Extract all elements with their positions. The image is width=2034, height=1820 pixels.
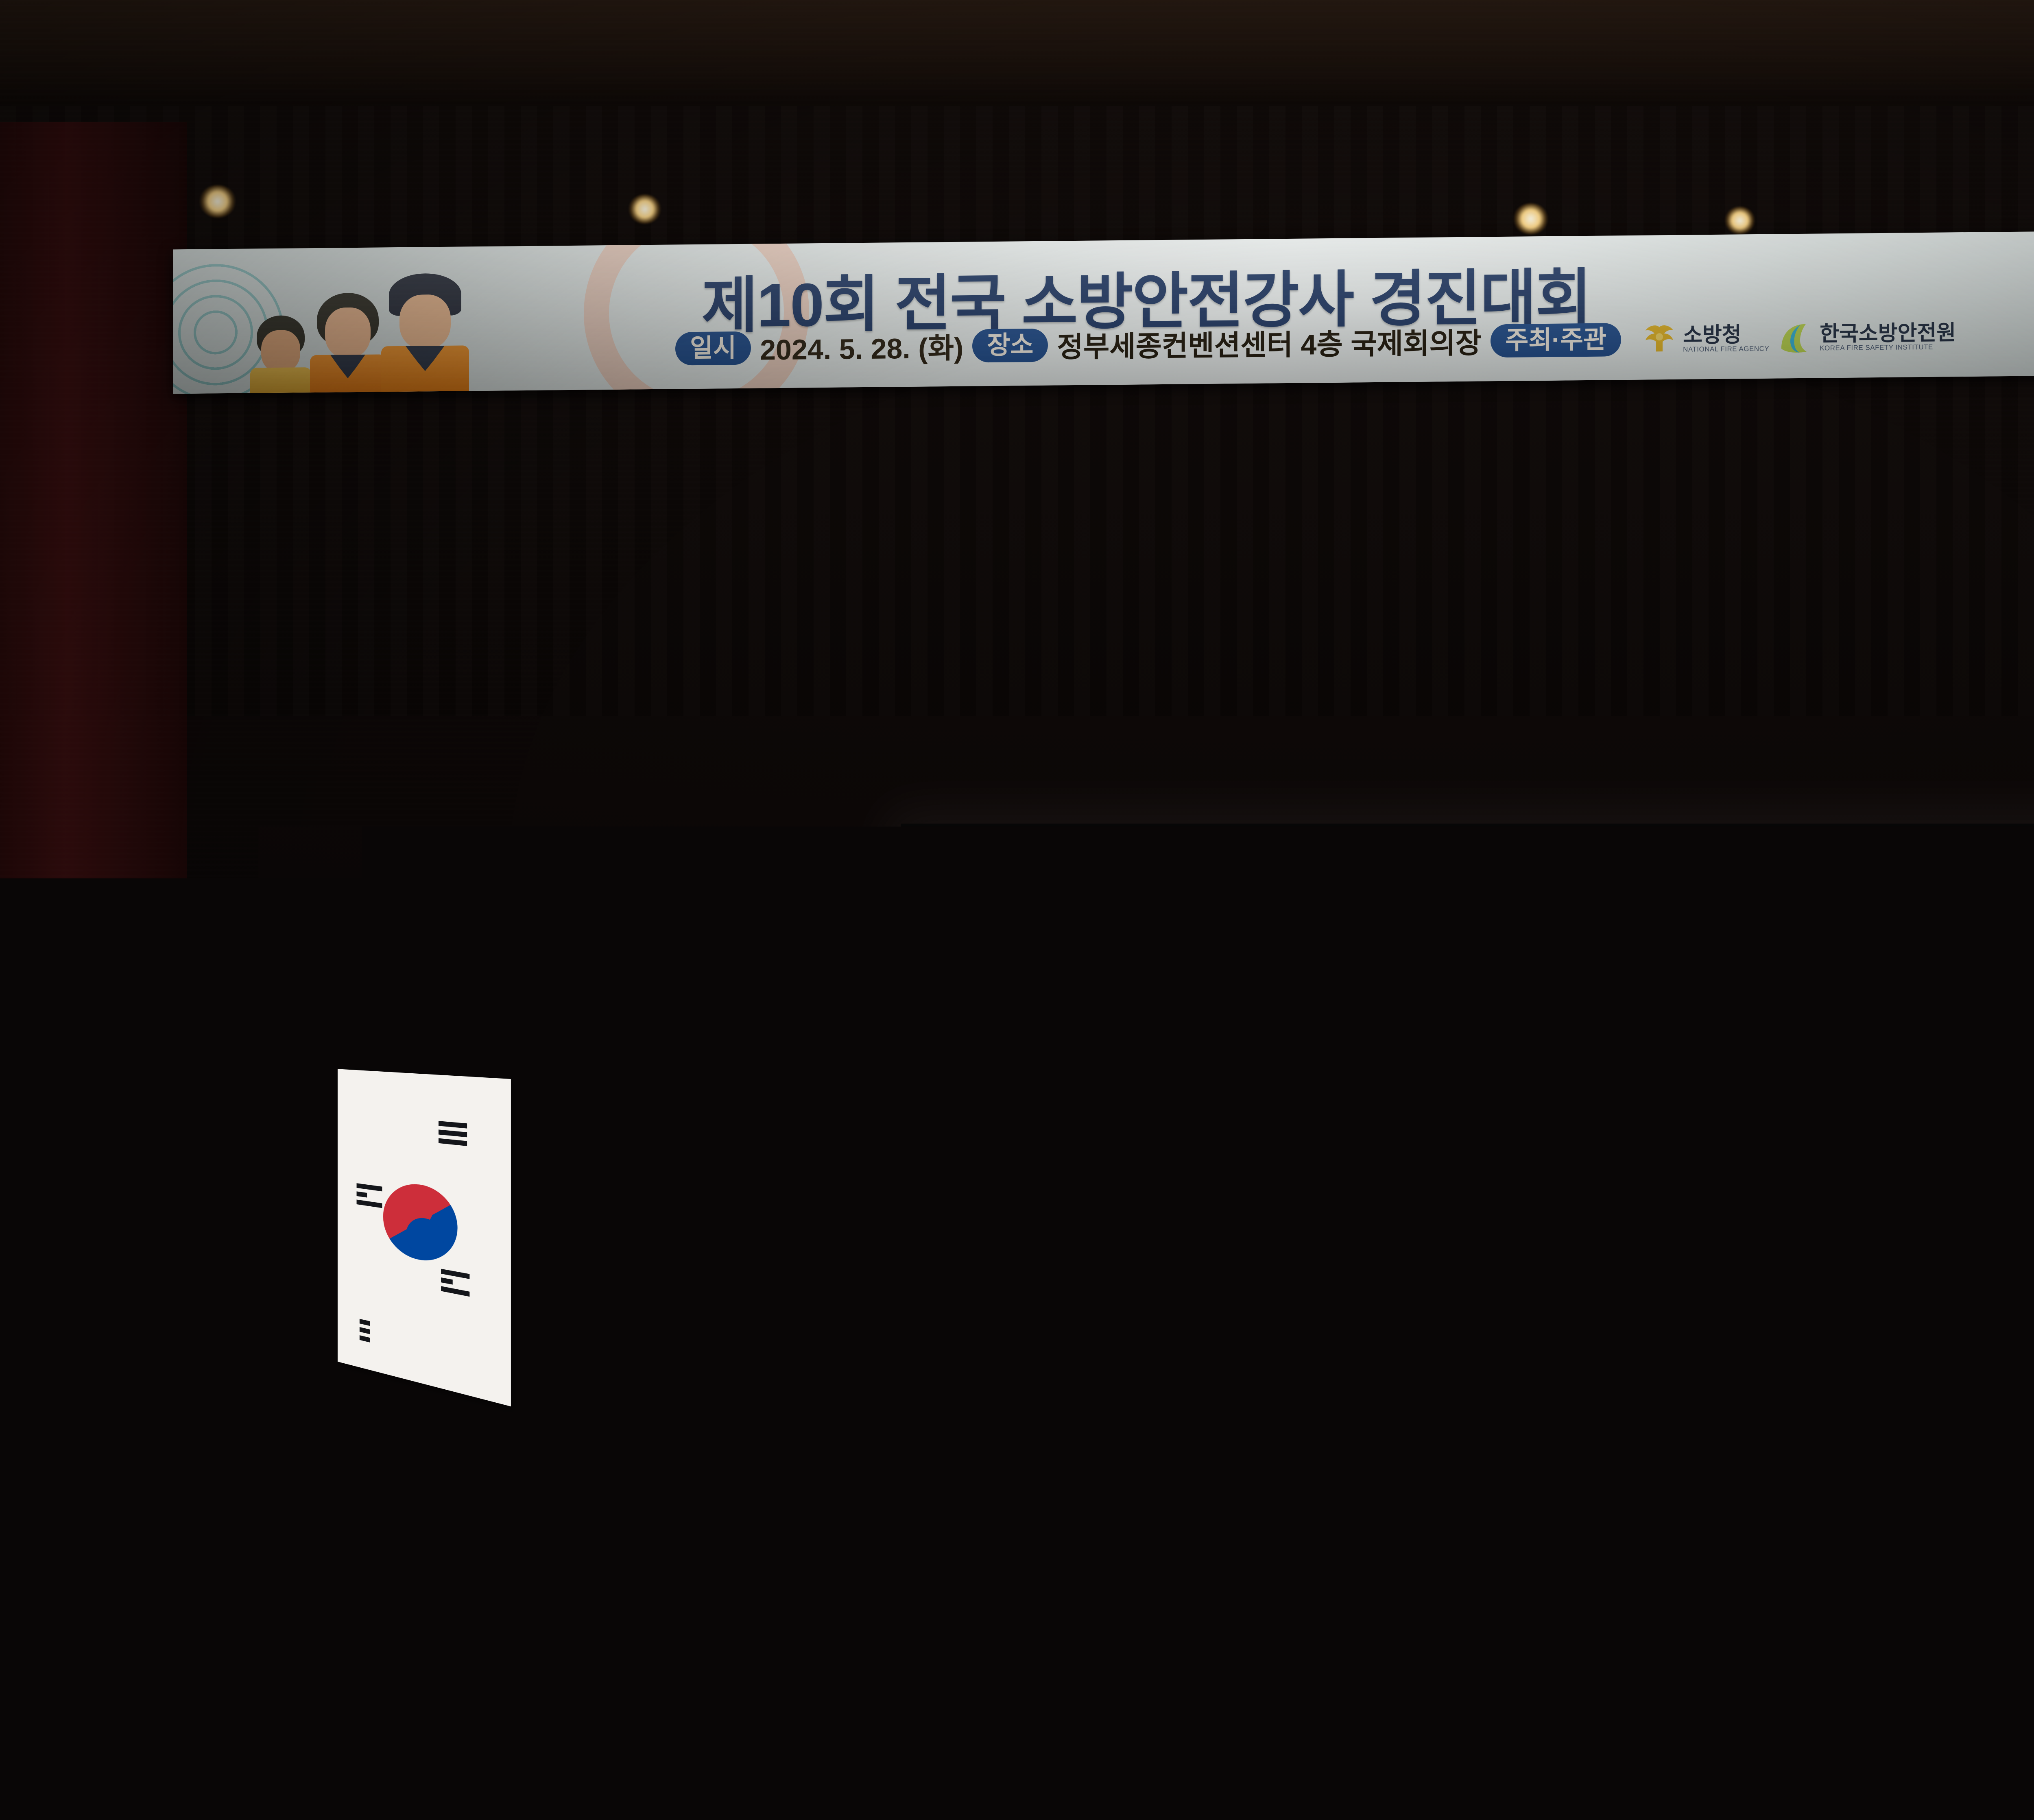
audience-member xyxy=(443,1545,578,1820)
camcorder-lcd-screen xyxy=(1613,1420,1638,1441)
date-chip-label: 일시 xyxy=(675,331,751,365)
organizer-kfsi: 한국소방안전원 KOREA FIRE SAFETY INSTITUTE xyxy=(1777,320,1956,354)
event-place-value: 정부세종컨벤션센터 4층 국제회의장 xyxy=(1057,320,1482,365)
event-date-value: 2024. 5. 28. (화) xyxy=(760,325,963,368)
back-curtain xyxy=(0,106,2034,716)
taeguk-symbol xyxy=(383,1180,458,1266)
stage-monitor-speaker xyxy=(1135,1407,1237,1468)
slide-credit-text: 강원특별자치도소방본부 평창소방서 소방교 김지연 xyxy=(1585,1304,2016,1335)
flower-bloom xyxy=(1552,1480,1582,1510)
water-bottle[interactable] xyxy=(1489,1586,1510,1655)
presenter-id-badge xyxy=(147,1322,172,1362)
trigram-geon xyxy=(439,1121,467,1150)
organizer-fire-agency: 소방청 NATIONAL FIRE AGENCY xyxy=(1641,322,1769,355)
audience-member xyxy=(130,1631,268,1820)
flagpole-base xyxy=(302,1505,359,1526)
banquet-chair[interactable] xyxy=(317,1654,447,1819)
audience-member xyxy=(1654,1448,1784,1820)
audience-member xyxy=(1824,1501,1947,1820)
organizer-logos: 소방청 NATIONAL FIRE AGENCY 한국소방안전원 xyxy=(1641,320,1956,355)
projection-screen-frame: 노인 대상 자연재난 안전교육 여름마당겨울마당 xyxy=(901,824,2034,1348)
fire-agency-name-en: NATIONAL FIRE AGENCY xyxy=(1683,345,1769,353)
fire-station-emblem-icon xyxy=(1545,1303,1577,1335)
flower-bloom xyxy=(1471,1472,1515,1511)
trigram-gon xyxy=(360,1319,370,1346)
trigram-ri xyxy=(441,1269,469,1301)
presenter-arm-left xyxy=(95,1297,118,1383)
ceiling-spotlight xyxy=(1725,207,1755,234)
flagpole xyxy=(327,1053,334,1533)
ceiling-spotlight xyxy=(1513,203,1548,234)
presenter-shoulder-epaulette xyxy=(108,1259,135,1271)
trigram-gam xyxy=(357,1183,382,1212)
event-banner: 제10회 전국 소방안전강사 경진대회 일시 2024. 5. 28. (화) … xyxy=(173,227,2034,394)
presenter-arm-patch xyxy=(182,1273,204,1295)
stage-monitor-speaker xyxy=(659,1403,761,1464)
audience-member xyxy=(1298,1484,1420,1820)
slide-credit-line: 강원특별자치도소방본부 평창소방서 소방교 김지연 xyxy=(1545,1303,2016,1335)
audience-member xyxy=(1035,1476,1157,1820)
smartphone[interactable] xyxy=(895,1476,1005,1537)
paper-cup[interactable] xyxy=(1542,1636,1572,1675)
stage-monitor-speaker xyxy=(1912,1403,2014,1464)
audience-raised-arm xyxy=(930,1533,978,1785)
flower-bloom xyxy=(1515,1464,1552,1497)
presenter-arm-right xyxy=(201,1297,223,1383)
projection-screen: 노인 대상 자연재난 안전교육 여름마당겨울마당 xyxy=(905,829,2034,1344)
host-chip-label: 주최·주관 xyxy=(1491,323,1621,357)
flower-bloom xyxy=(1438,1497,1475,1529)
character-male-officer xyxy=(374,275,476,394)
banner-firefighter-characters xyxy=(244,275,488,394)
presenter-trousers xyxy=(117,1383,197,1533)
ceiling xyxy=(0,0,2034,122)
kfsi-name-ko: 한국소방안전원 xyxy=(1820,322,1956,344)
ceiling-spotlight xyxy=(629,194,661,224)
slide-topic-badge: 노인 대상 자연재난 안전교육 xyxy=(1331,924,1643,960)
presenter-shoulder-epaulette xyxy=(183,1259,210,1271)
place-chip-label: 장소 xyxy=(972,328,1048,362)
smartphone-record-indicator xyxy=(943,1478,957,1484)
smartphone-screen xyxy=(899,1481,1001,1532)
audience-member xyxy=(2018,1505,2034,1820)
elderly-couple-illustration xyxy=(1332,1019,1641,1295)
kfsi-name-en: KOREA FIRE SAFETY INSTITUTE xyxy=(1820,343,1956,351)
ceiling-spotlight xyxy=(199,185,236,218)
kfsi-swoosh-icon xyxy=(1777,321,1815,354)
auditorium-photo: 제10회 전국 소방안전강사 경진대회 일시 2024. 5. 28. (화) … xyxy=(0,0,2034,1820)
camcorder-record-indicator xyxy=(1573,1417,1578,1422)
presenter-firefighter xyxy=(92,1196,226,1533)
audience-member xyxy=(592,1464,710,1820)
fire-agency-eagle-icon xyxy=(1641,323,1678,355)
fire-agency-name-ko: 소방청 xyxy=(1683,324,1769,346)
flower-bloom xyxy=(1507,1499,1541,1530)
